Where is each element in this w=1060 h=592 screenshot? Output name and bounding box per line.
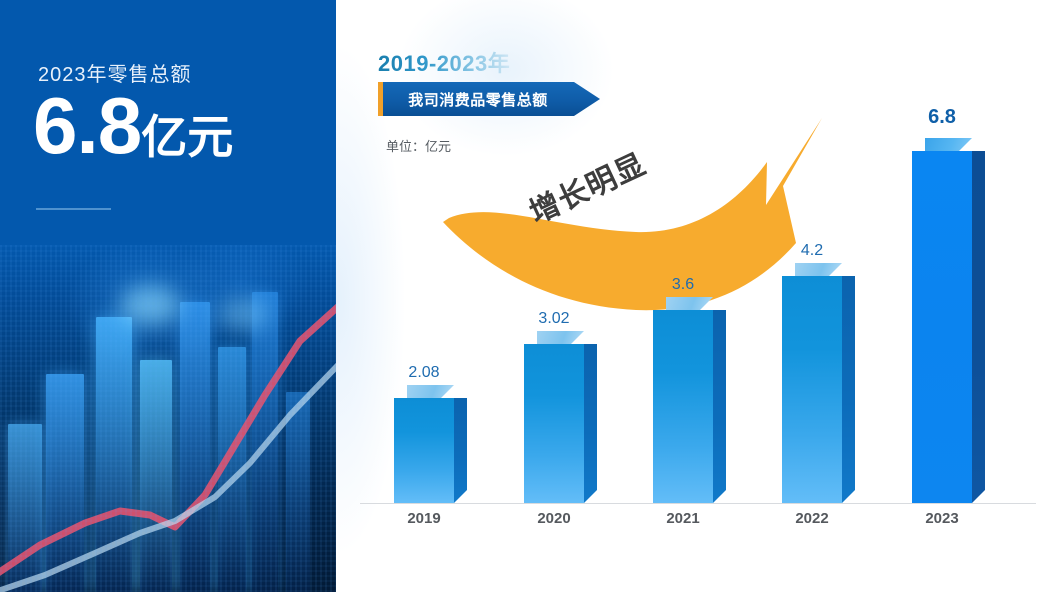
- bar-front-face: [524, 344, 584, 503]
- axis-label-2023: 2023: [892, 510, 992, 527]
- bar-chart: 2.08 2019 3.02 2020 3.6 2021 4.2: [336, 0, 1060, 592]
- hero-value: 6.8亿元: [33, 86, 233, 166]
- left-hero-panel: 2023年零售总额 6.8亿元: [0, 0, 336, 592]
- hero-divider: [36, 208, 111, 210]
- bar-value-2019: 2.08: [380, 364, 468, 382]
- bar-side-face: [972, 151, 985, 503]
- bar-side-face: [584, 344, 597, 503]
- chart-panel: 2019-2023年 我司消费品零售总额 单位：亿元 增长明显 2.08 201…: [336, 0, 1060, 592]
- chart-baseline: [360, 503, 1036, 504]
- bar-front-face: [653, 310, 713, 503]
- axis-label-2022: 2022: [762, 510, 862, 527]
- bar-front-face: [912, 151, 972, 503]
- bar-top-face: [666, 297, 726, 310]
- bar-side-face: [713, 310, 726, 503]
- bar-value-2020: 3.02: [510, 310, 598, 328]
- bar-top-face: [795, 263, 855, 276]
- bar-top-face: [407, 385, 467, 398]
- bar-value-2023: 6.8: [898, 106, 986, 129]
- bar-value-2021: 3.6: [639, 276, 727, 294]
- axis-label-2021: 2021: [633, 510, 733, 527]
- hero-value-unit: 亿元: [141, 111, 233, 163]
- bar-side-face: [454, 398, 467, 503]
- axis-label-2019: 2019: [374, 510, 474, 527]
- bar-top-face: [537, 331, 597, 344]
- bar-front-face: [394, 398, 454, 503]
- bar-front-face: [782, 276, 842, 503]
- bar-side-face: [842, 276, 855, 503]
- hero-value-number: 6.8: [33, 81, 141, 170]
- axis-label-2020: 2020: [504, 510, 604, 527]
- bar-top-face: [925, 138, 985, 151]
- financial-chart-background: [0, 245, 336, 592]
- bar-value-2022: 4.2: [768, 242, 856, 260]
